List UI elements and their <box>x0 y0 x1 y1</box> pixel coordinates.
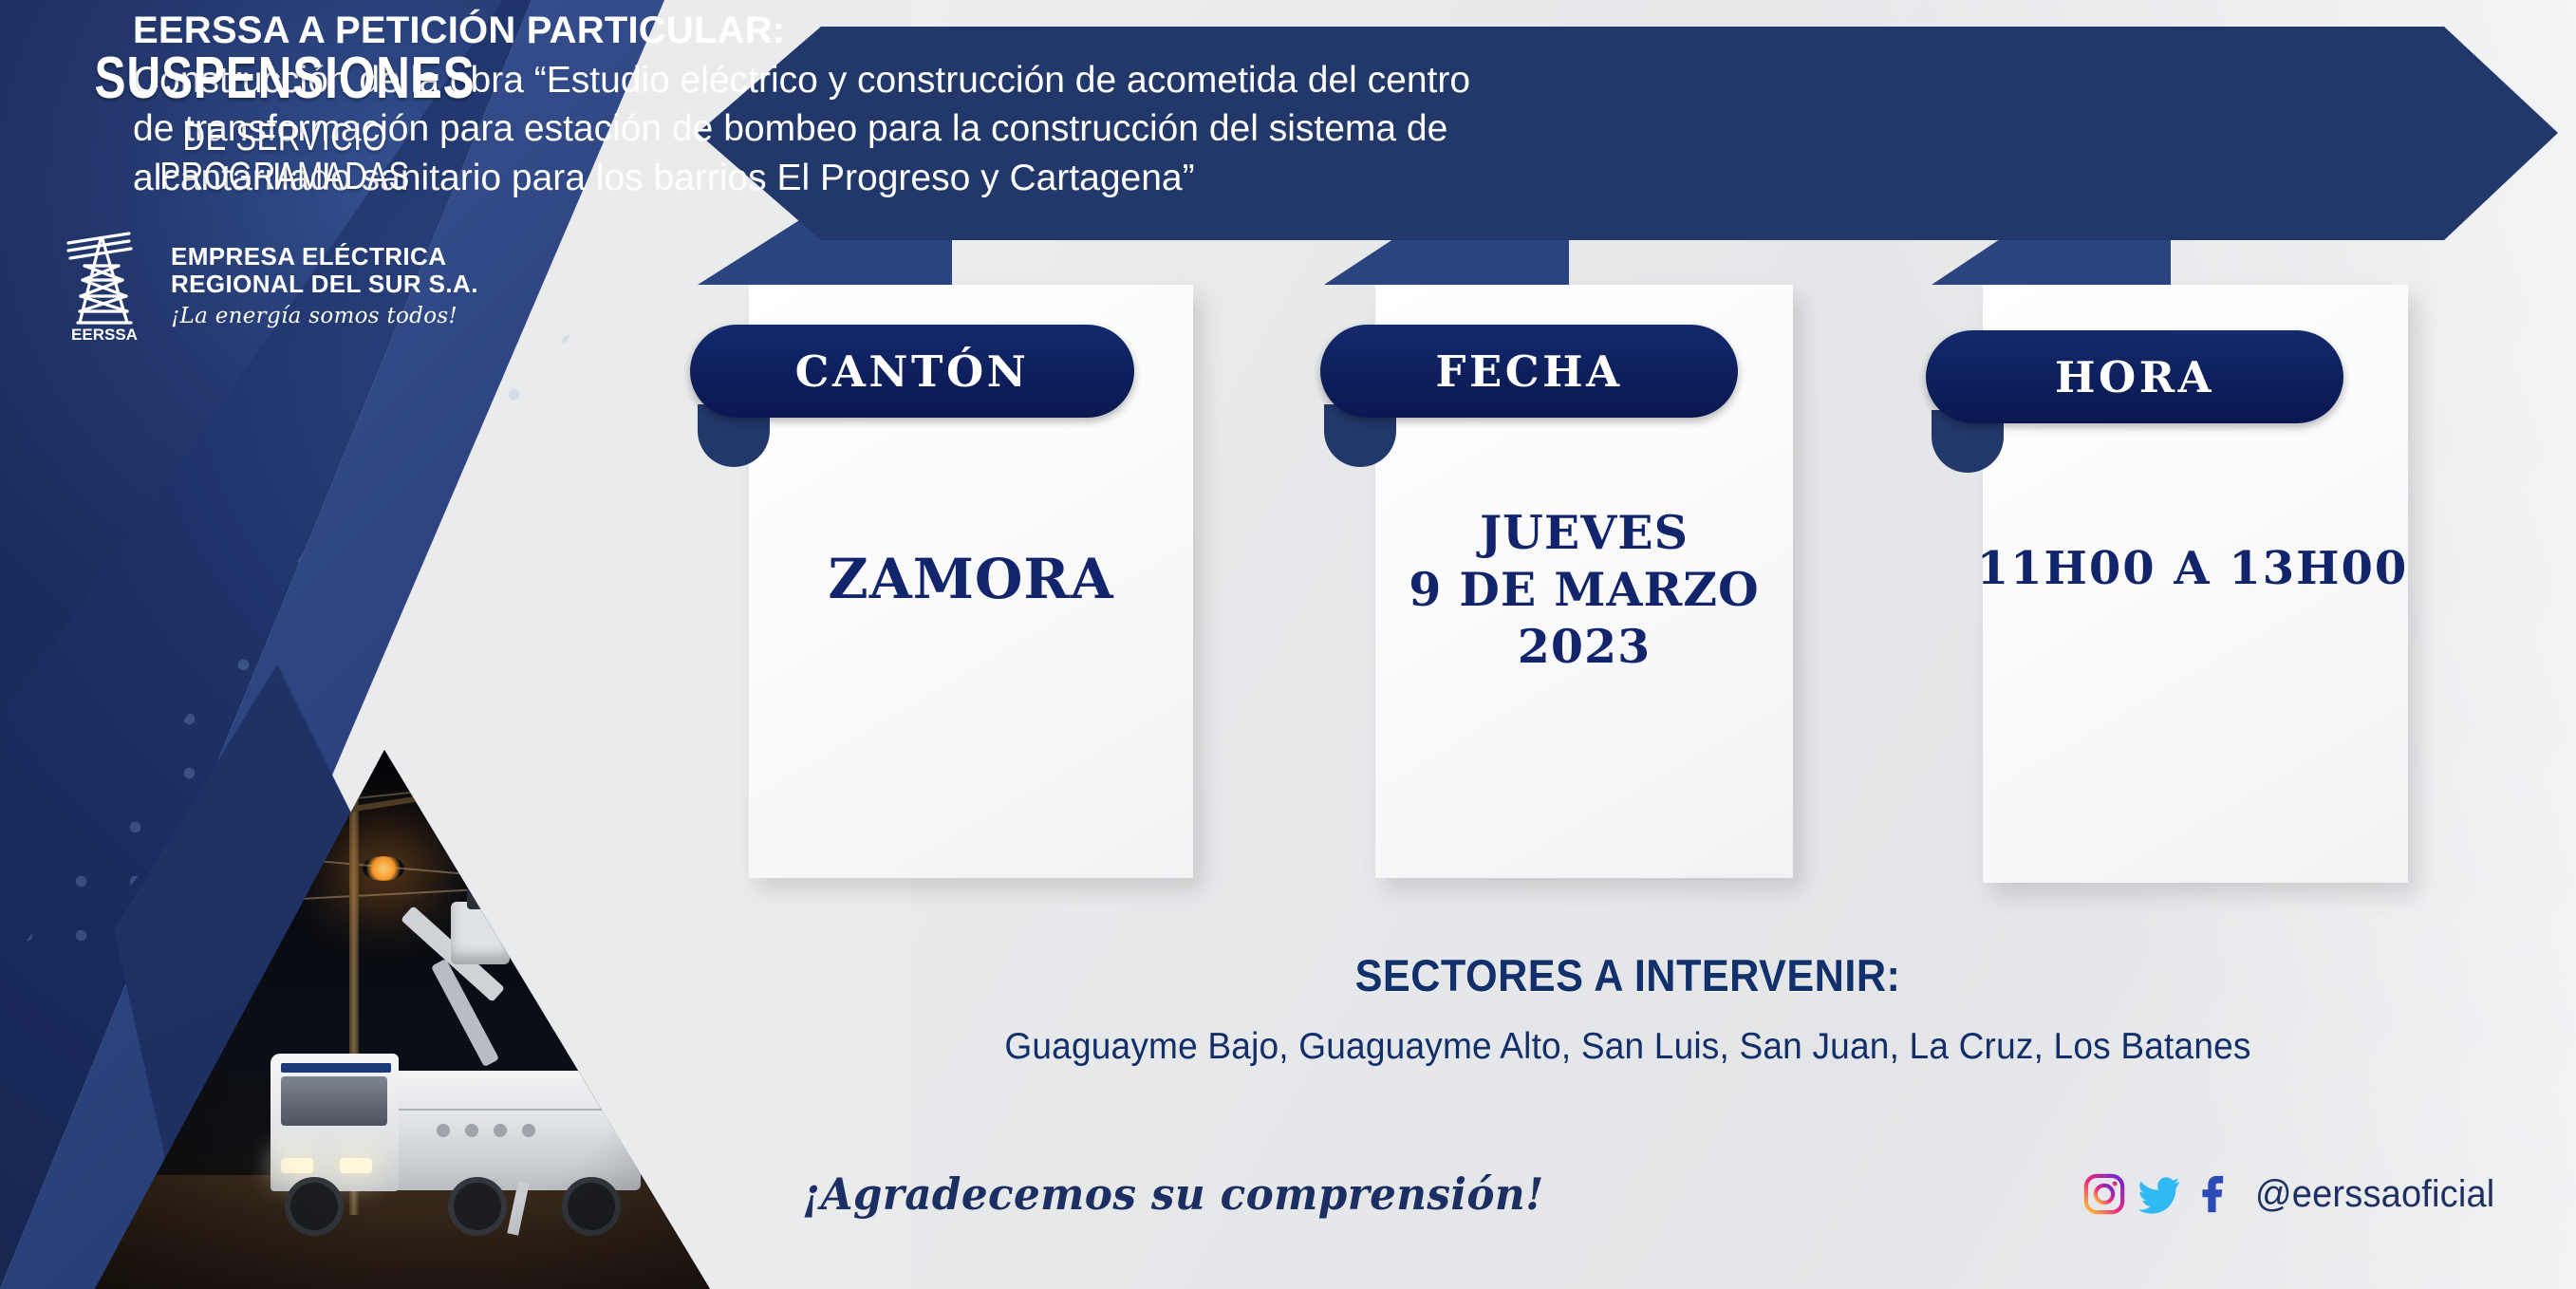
card-value-canton: ZAMORA <box>749 546 1193 613</box>
instagram-icon[interactable] <box>2082 1172 2126 1216</box>
logo-slogan: ¡La energía somos todos! <box>171 304 478 328</box>
social-handle[interactable]: @eerssaoficial <box>2255 1173 2494 1216</box>
card-label: HORA <box>2055 352 2214 402</box>
card-label: CANTÓN <box>795 346 1030 397</box>
card-value-line: JUEVES <box>1366 505 1802 562</box>
info-cards: CANTÓN ZAMORA FECHA JUEVES 9 DE MARZO 20… <box>698 275 2558 902</box>
sectors-list: Guaguayme Bajo, Guaguayme Alto, San Luis… <box>744 1026 2511 1068</box>
card-value-hora: 11H00 A 13H00 <box>1969 541 2416 597</box>
eerssa-logo-text: EMPRESA ELÉCTRICA REGIONAL DEL SUR S.A. … <box>171 243 478 328</box>
card-value-line: 9 DE MARZO <box>1366 562 1802 619</box>
card-value-fecha: JUEVES 9 DE MARZO 2023 <box>1366 505 1802 675</box>
card-tab-hora: HORA <box>1926 330 2343 423</box>
thanks-message: ¡Agradecemos su comprensión! <box>802 1168 1544 1220</box>
sectors-block: SECTORES A INTERVENIR: Guaguayme Bajo, G… <box>698 949 2558 1068</box>
eerssa-logo: EERSSA EMPRESA ELÉCTRICA REGIONAL DEL SU… <box>59 228 478 344</box>
card-label: FECHA <box>1436 346 1623 397</box>
poster-title-secondary: DE SERVICIO PROGRAMADAS <box>57 118 513 196</box>
transmission-tower-icon: EERSSA <box>59 228 150 344</box>
logo-company-line1: EMPRESA ELÉCTRICA <box>171 243 478 271</box>
poster-title-block: SUSPENSIONES DE SERVICIO PROGRAMADAS <box>0 49 569 196</box>
facebook-icon[interactable] <box>2193 1172 2236 1216</box>
sectors-heading: SECTORES A INTERVENIR: <box>772 949 2483 1001</box>
card-tab-canton: CANTÓN <box>690 325 1134 418</box>
card-value-line: 2023 <box>1366 619 1802 676</box>
logo-mark-text: EERSSA <box>71 326 138 344</box>
card-tab-fecha: FECHA <box>1320 325 1738 418</box>
poster-root: SUSPENSIONES DE SERVICIO PROGRAMADAS <box>0 0 2576 1289</box>
social-media-block: @eerssaoficial <box>2082 1172 2508 1216</box>
twitter-icon[interactable] <box>2137 1172 2181 1216</box>
logo-company-line2: REGIONAL DEL SUR S.A. <box>171 271 478 298</box>
poster-title-primary: SUSPENSIONES <box>57 49 513 108</box>
